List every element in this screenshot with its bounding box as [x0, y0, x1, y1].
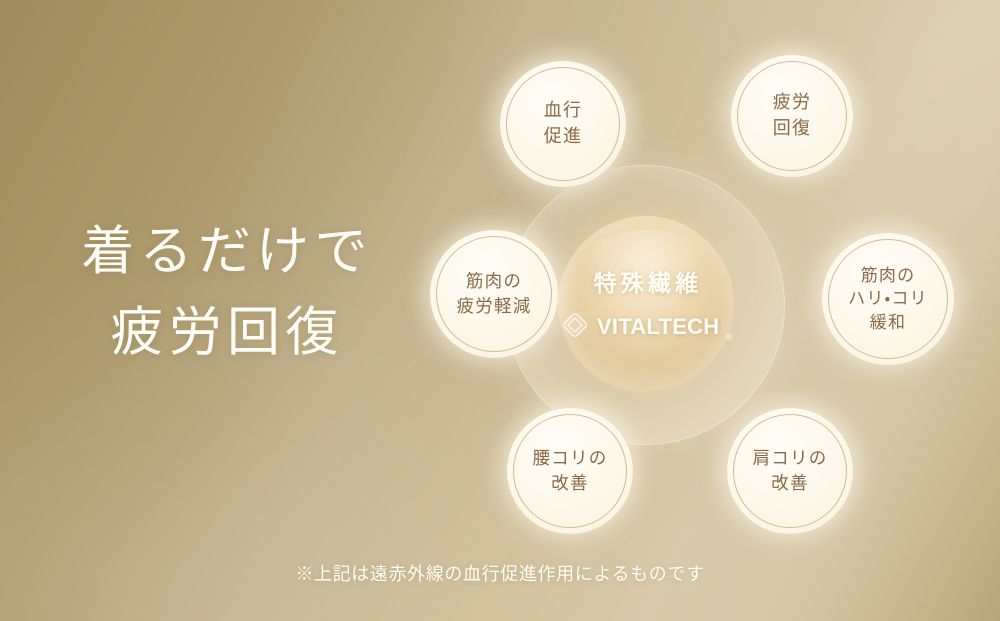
- bubble-label: 筋肉のハリ・コリ緩和: [848, 264, 928, 333]
- bubble-label: 疲労回復: [773, 90, 812, 141]
- bubble-label: 筋肉の疲労軽減: [457, 269, 532, 319]
- headline-line-2: 疲労回復: [62, 293, 392, 374]
- benefit-bubble-lower-back[interactable]: 腰コリの改善: [507, 408, 633, 534]
- brand-name: VITALTECH: [597, 314, 720, 340]
- brand-logo: VITALTECH ®: [560, 310, 732, 345]
- vitaltech-diamond-icon: [560, 310, 590, 345]
- footnote-disclaimer: ※上記は遠赤外線の血行促進作用によるものです: [0, 560, 1000, 586]
- registered-mark: ®: [725, 333, 732, 345]
- center-title: 特殊繊維: [590, 264, 703, 298]
- benefit-bubble-fatigue-recovery[interactable]: 疲労回復: [731, 55, 853, 177]
- center-content: 特殊繊維: [558, 216, 734, 392]
- page-title: 着るだけで 疲労回復: [62, 212, 392, 373]
- headline-line-1: 着るだけで: [62, 212, 392, 293]
- promo-banner: 着るだけで 疲労回復 特殊繊維: [0, 0, 1000, 621]
- benefit-diagram: 特殊繊維: [390, 40, 970, 560]
- benefit-bubble-muscle-fatigue[interactable]: 筋肉の疲労軽減: [430, 230, 558, 358]
- bubble-label: 腰コリの改善: [533, 446, 608, 496]
- bubble-label: 肩コリの改善: [753, 446, 828, 496]
- bubble-label: 血行促進: [544, 98, 583, 149]
- benefit-bubble-blood-circulation[interactable]: 血行促進: [500, 61, 626, 187]
- benefit-bubble-shoulder[interactable]: 肩コリの改善: [727, 408, 853, 534]
- benefit-bubble-muscle-stiffness[interactable]: 筋肉のハリ・コリ緩和: [822, 233, 954, 365]
